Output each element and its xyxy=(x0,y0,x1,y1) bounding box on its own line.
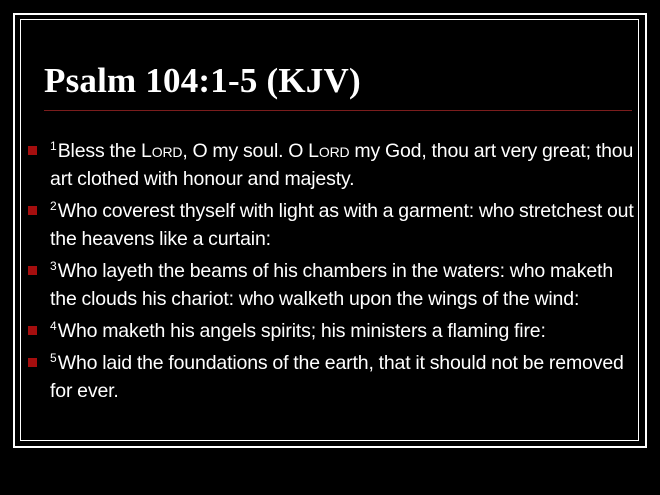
title-divider xyxy=(44,110,632,111)
square-bullet-icon xyxy=(28,146,37,155)
verse-text: 2Who coverest thyself with light as with… xyxy=(50,197,634,253)
verse-segment-before: Bless the xyxy=(58,140,141,162)
verse-number: 2 xyxy=(50,199,57,213)
verse-number: 3 xyxy=(50,259,57,273)
verse-text: 3Who layeth the beams of his chambers in… xyxy=(50,257,634,313)
list-item: 3Who layeth the beams of his chambers in… xyxy=(28,257,634,313)
divine-name: Lord xyxy=(308,140,349,162)
list-item: 1Bless the Lord, O my soul. O Lord my Go… xyxy=(28,137,634,193)
list-item: 2Who coverest thyself with light as with… xyxy=(28,197,634,253)
verse-segment-middle: , O my soul. O xyxy=(182,140,308,162)
verse-text: 5Who laid the foundations of the earth, … xyxy=(50,349,634,405)
list-item: 5Who laid the foundations of the earth, … xyxy=(28,349,634,405)
verse-text: 1Bless the Lord, O my soul. O Lord my Go… xyxy=(50,137,634,193)
square-bullet-icon xyxy=(28,358,37,367)
verse-list: 1Bless the Lord, O my soul. O Lord my Go… xyxy=(28,137,634,409)
verse-number: 4 xyxy=(50,319,57,333)
verse-body: Who maketh his angels spirits; his minis… xyxy=(58,320,546,342)
verse-body: Who laid the foundations of the earth, t… xyxy=(50,352,624,402)
verse-number: 1 xyxy=(50,139,57,153)
page-title: Psalm 104:1-5 (KJV) xyxy=(44,60,634,102)
slide-title-block: Psalm 104:1-5 (KJV) xyxy=(44,60,634,111)
square-bullet-icon xyxy=(28,206,37,215)
verse-number: 5 xyxy=(50,351,57,365)
divine-name: Lord xyxy=(141,140,182,162)
verse-body: Who layeth the beams of his chambers in … xyxy=(50,260,613,310)
square-bullet-icon xyxy=(28,266,37,275)
verse-text: 4Who maketh his angels spirits; his mini… xyxy=(50,317,634,345)
list-item: 4Who maketh his angels spirits; his mini… xyxy=(28,317,634,345)
presentation-slide: Psalm 104:1-5 (KJV) 1Bless the Lord, O m… xyxy=(0,0,660,495)
square-bullet-icon xyxy=(28,326,37,335)
verse-body: Who coverest thyself with light as with … xyxy=(50,200,634,250)
